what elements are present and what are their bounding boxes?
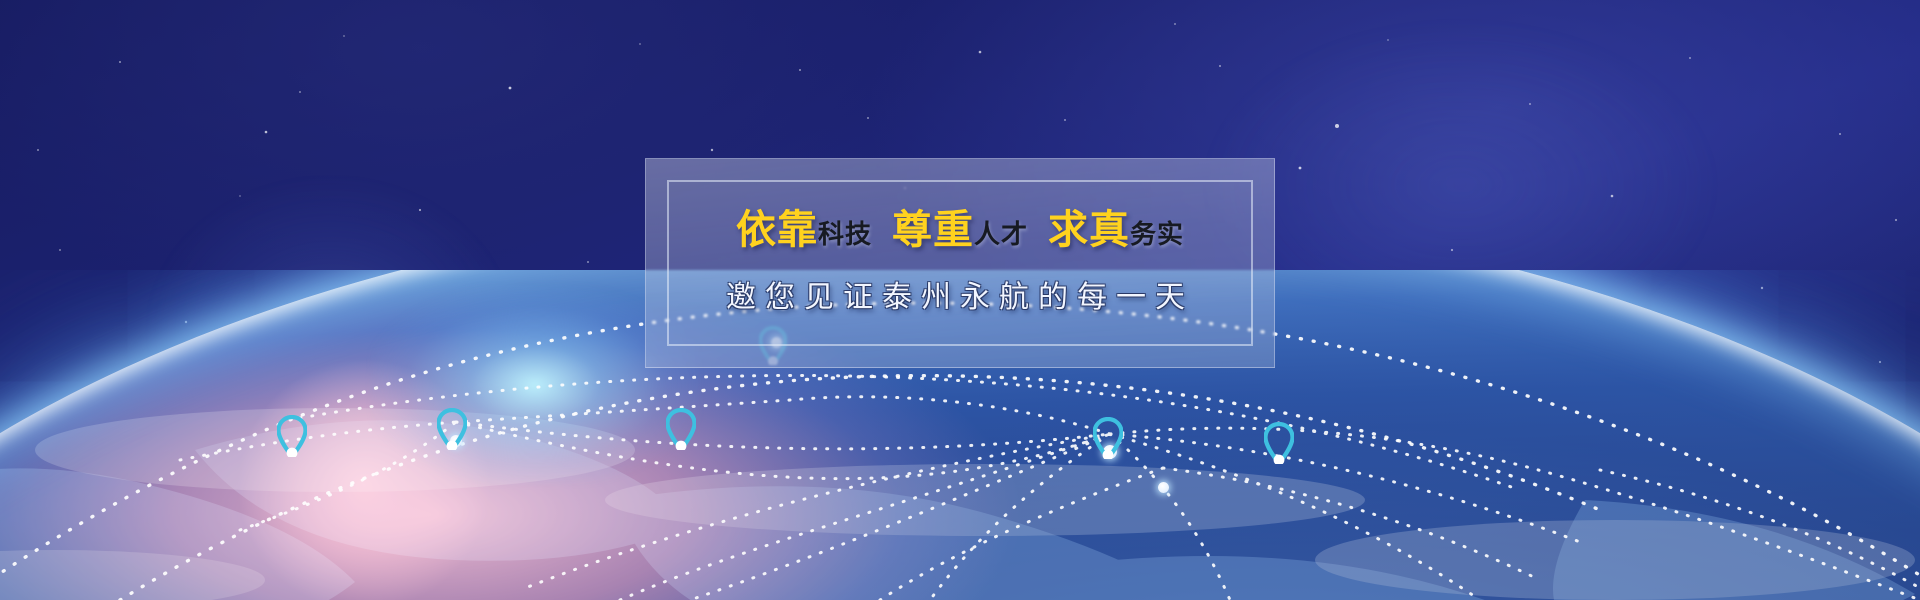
node-secondary	[450, 435, 462, 447]
headline-segment-2: 科技	[818, 220, 872, 250]
node-tertiary	[1158, 482, 1169, 493]
slogan-headline: 依靠科技尊重人才求真务实	[736, 210, 1184, 250]
headline-segment-6: 务实	[1130, 220, 1184, 250]
headline-segment-1: 依靠	[736, 206, 818, 253]
headline-segment-3: 尊重	[892, 206, 974, 253]
node-hub-primary	[1103, 445, 1117, 459]
slogan-text-group: 依靠科技尊重人才求真务实 邀您见证泰州永航的每一天	[646, 159, 1274, 367]
slogan-subline: 邀您见证泰州永航的每一天	[726, 272, 1194, 316]
headline-segment-4: 人才	[974, 220, 1028, 250]
banner-stage: 依靠科技尊重人才求真务实 邀您见证泰州永航的每一天	[0, 0, 1920, 600]
slogan-panel: 依靠科技尊重人才求真务实 邀您见证泰州永航的每一天	[645, 158, 1275, 368]
headline-segment-5: 求真	[1048, 206, 1130, 253]
